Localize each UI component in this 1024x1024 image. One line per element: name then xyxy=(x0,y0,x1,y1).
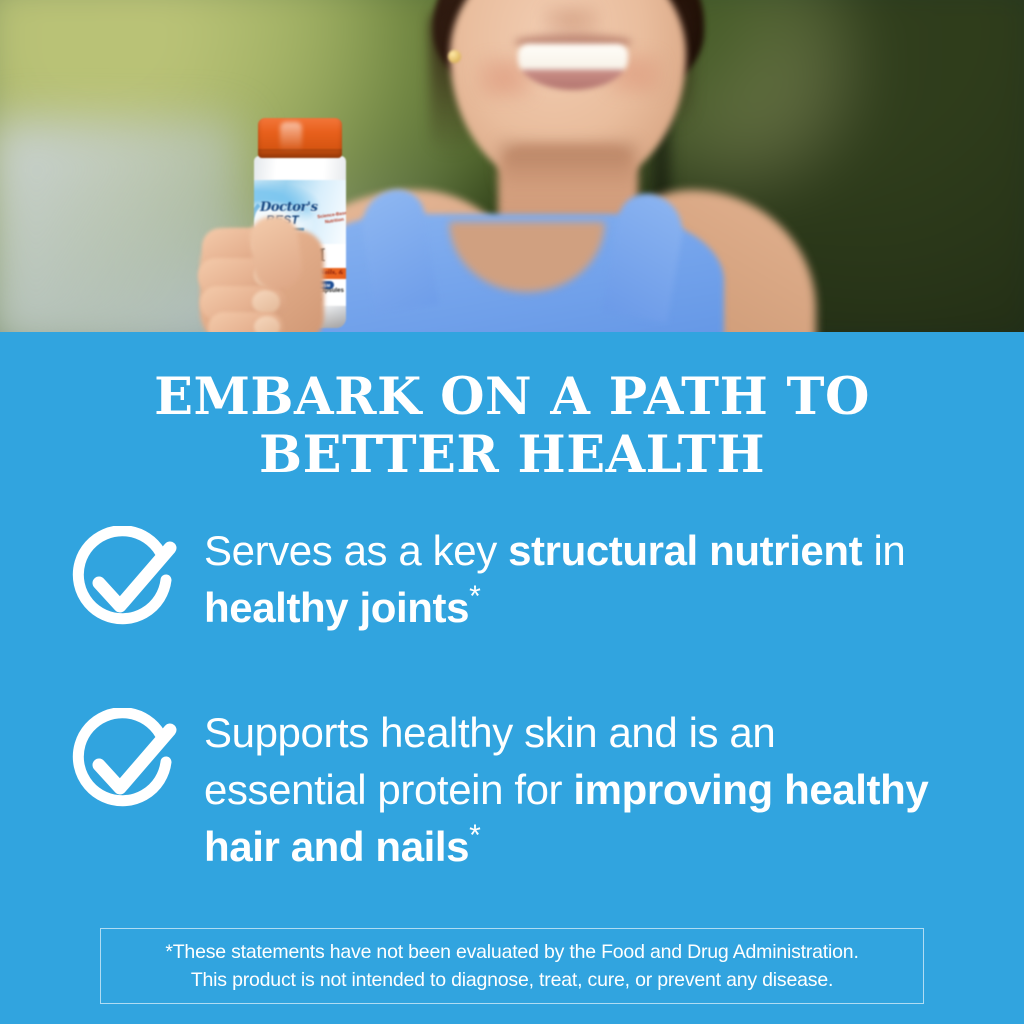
disclaimer-line-2: This product is not intended to diagnose… xyxy=(165,966,858,994)
headline-line-1: EMBARK ON A PATH TO xyxy=(154,367,870,427)
headline-line-2: BETTER HEALTH xyxy=(0,426,1024,484)
disclaimer-text: *These statements have not been evaluate… xyxy=(165,938,858,994)
benefit-1-seg-0: Serves as a key xyxy=(204,527,508,574)
nose-shadow xyxy=(542,4,600,38)
woman-figure xyxy=(330,0,810,332)
list-item: Serves as a key structural nutrient in h… xyxy=(0,522,1024,636)
benefit-1-seg-1: structural nutrient xyxy=(508,527,862,574)
content-panel: EMBARK ON A PATH TO BETTER HEALTH Serves… xyxy=(0,332,1024,1024)
disclaimer-box: *These statements have not been evaluate… xyxy=(100,928,924,1004)
hand xyxy=(196,212,346,332)
benefit-2-seg-0: Supports healthy skin xyxy=(204,709,597,756)
hero-photo: Doctor's BEST Science-Based Nutrition MS… xyxy=(0,0,1024,332)
page-title: EMBARK ON A PATH TO BETTER HEALTH xyxy=(0,368,1024,484)
fingernail-little xyxy=(254,316,280,332)
fingernail-ring xyxy=(252,290,280,314)
benefit-1-seg-2: in xyxy=(862,527,905,574)
benefit-text-2: Supports healthy skin and is an essentia… xyxy=(178,704,994,875)
benefit-list: Serves as a key structural nutrient in h… xyxy=(0,522,1024,943)
check-circle-icon xyxy=(72,708,178,814)
cap-ridge xyxy=(258,149,342,156)
footnote-marker-2: * xyxy=(469,819,480,852)
check-circle-icon xyxy=(72,526,178,632)
tank-neckline xyxy=(434,222,620,306)
neck-shadow xyxy=(500,144,636,192)
cap-highlight xyxy=(280,122,302,152)
footnote-marker-1: * xyxy=(469,580,480,613)
marketing-graphic: Doctor's BEST Science-Based Nutrition MS… xyxy=(0,0,1024,1024)
benefit-1-seg-3: healthy joints xyxy=(204,584,469,631)
benefit-text-1: Serves as a key structural nutrient in h… xyxy=(178,522,994,636)
earring xyxy=(448,50,461,63)
list-item: Supports healthy skin and is an essentia… xyxy=(0,704,1024,875)
disclaimer-line-1: *These statements have not been evaluate… xyxy=(165,938,858,966)
